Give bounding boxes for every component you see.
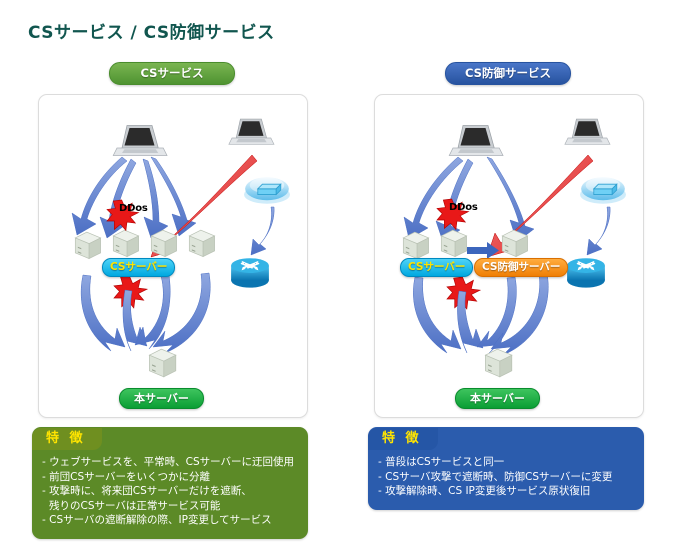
label-main-server-left: 本サーバー [119,388,204,409]
label-cs-server-right: CSサーバー [400,258,473,277]
laptop-icon-client [449,126,503,156]
router-icon [567,258,605,287]
cloud-icon [580,177,626,203]
panel-cs-defense-service: CS防御サービス [358,62,658,510]
cloud-router-arrow [587,207,610,255]
label-cs-defense-server: CS防御サーバー [474,258,568,277]
server-icon-1 [403,232,428,258]
server-icon-3 [151,230,176,256]
diagram-canvas-right [375,95,643,417]
feature-box-cs-defense-service: 特 徴 - 普段はCSサービスと同一 - CSサーバ攻撃で遮断時、防御CSサーバ… [368,427,644,510]
feature-item: - 前団CSサーバーをいくつかに分離 [42,470,308,485]
label-main-server-right: 本サーバー [455,388,540,409]
server-icon-defense [502,230,527,256]
laptop-icon-client [113,126,167,156]
server-icon-4 [189,230,214,256]
router-icon [231,258,269,287]
panel-header-cs-service[interactable]: CSサービス [109,62,235,85]
ddos-label-left: DDos [119,203,148,214]
cloud-router-arrow [251,207,274,255]
cloud-icon [244,177,290,203]
server-icon-1 [75,232,100,258]
server-icon-main [485,349,511,377]
ddos-label-right: DDos [449,202,478,213]
server-icon-2 [113,230,138,256]
feature-box-cs-service: 特 徴 - ウェブサービスを、平常時、CSサーバーに迂回使用 - 前団CSサーバ… [32,427,308,539]
page-title: CSサービス / CS防御サービス [28,18,275,43]
diagram-cs-defense-service: DDos CSサーバー CS防御サーバー 本サーバー [374,94,644,418]
feature-item: - ウェブサービスを、平常時、CSサーバーに迂回使用 [42,455,308,470]
feature-item: - CSサーバ攻撃で遮断時、防御CSサーバーに変更 [378,470,644,485]
laptop-icon-attacker [229,119,274,144]
server-icon-main [149,349,175,377]
feature-heading-right: 特 徴 [368,428,438,450]
feature-item: - 攻撃時に、将来団CSサーバーだけを遮断、 [42,484,308,499]
diagram-canvas-left [39,95,307,417]
feature-list-right: - 普段はCSサービスと同一 - CSサーバ攻撃で遮断時、防御CSサーバーに変更… [368,453,644,499]
server-icon-2 [441,230,466,256]
laptop-icon-attacker [565,119,610,144]
panel-header-cs-defense-service[interactable]: CS防御サービス [445,62,571,85]
feature-item: - CSサーバの遮断解除の際、IP変更してサービス [42,513,308,528]
label-cs-server-left: CSサーバー [102,258,175,277]
panel-cs-service: CSサービス [22,62,322,539]
feature-heading-left: 特 徴 [32,428,102,450]
diagram-cs-service: DDos CSサーバー 本サーバー [38,94,308,418]
feature-item: - 普段はCSサービスと同一 [378,455,644,470]
feature-item: - 攻撃解除時、CS IP変更後サービス原状復旧 [378,484,644,499]
feature-item: 残りのCSサーバは正常サービス可能 [42,499,308,514]
feature-list-left: - ウェブサービスを、平常時、CSサーバーに迂回使用 - 前団CSサーバーをいく… [32,453,308,528]
